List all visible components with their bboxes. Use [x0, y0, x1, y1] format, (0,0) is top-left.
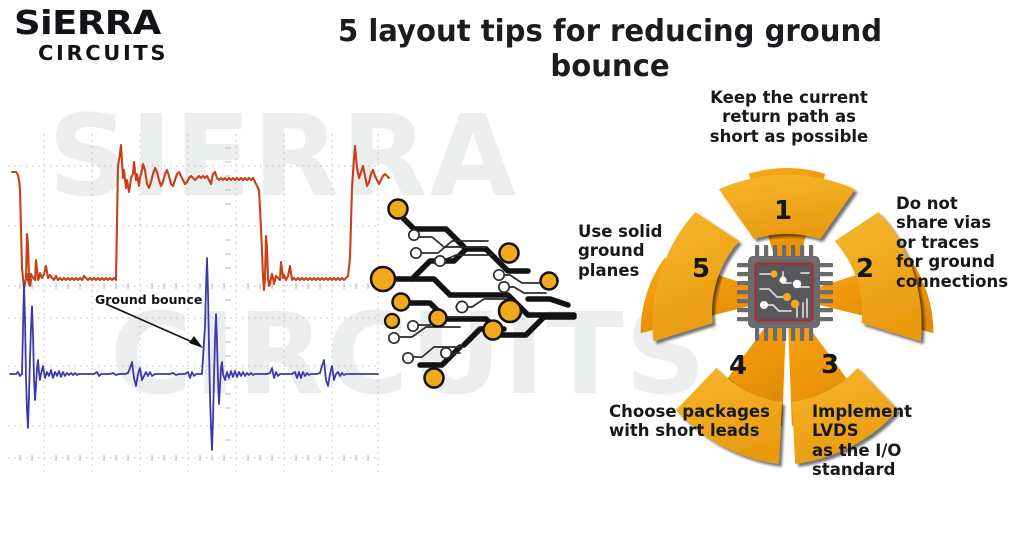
- segment-5-text: Use solid ground planes: [578, 222, 698, 280]
- segment-3-number: 3: [821, 350, 839, 380]
- logo-primary-text: SiERRA: [14, 6, 180, 39]
- segment-2-text: Do not share vias or traces for ground c…: [896, 194, 1018, 291]
- logo-secondary-text: CIRCUITS: [38, 43, 168, 63]
- segment-2-number: 2: [856, 254, 874, 284]
- segment-4-text: Choose packages with short leads: [609, 402, 784, 441]
- microchip-icon: [735, 243, 835, 343]
- oscilloscope-waveform-panel: [0, 128, 390, 488]
- segment-3-text: Implement LVDS as the I/O standard: [812, 402, 962, 480]
- chip-svg: [735, 243, 835, 343]
- signal-trace-red: [12, 145, 389, 290]
- sierra-circuits-logo: SiERRA CIRCUITS: [14, 6, 162, 63]
- waveform-svg: [0, 128, 390, 488]
- grid-horizontal: [8, 166, 378, 458]
- infographic-canvas: SIERRA CIRCUITS SiERRA CIRCUITS 5 layout…: [0, 0, 1024, 536]
- segment-1-number: 1: [774, 196, 792, 226]
- signal-trace-blue: [10, 258, 378, 450]
- chip-die: [756, 264, 813, 321]
- segment-5-number: 5: [692, 254, 710, 284]
- segment-1-text: Keep the current return path as short as…: [694, 88, 884, 146]
- ground-bounce-annotation-label: Ground bounce: [95, 292, 202, 307]
- segment-4-number: 4: [729, 351, 747, 381]
- page-title: 5 layout tips for reducing ground bounce: [280, 14, 940, 84]
